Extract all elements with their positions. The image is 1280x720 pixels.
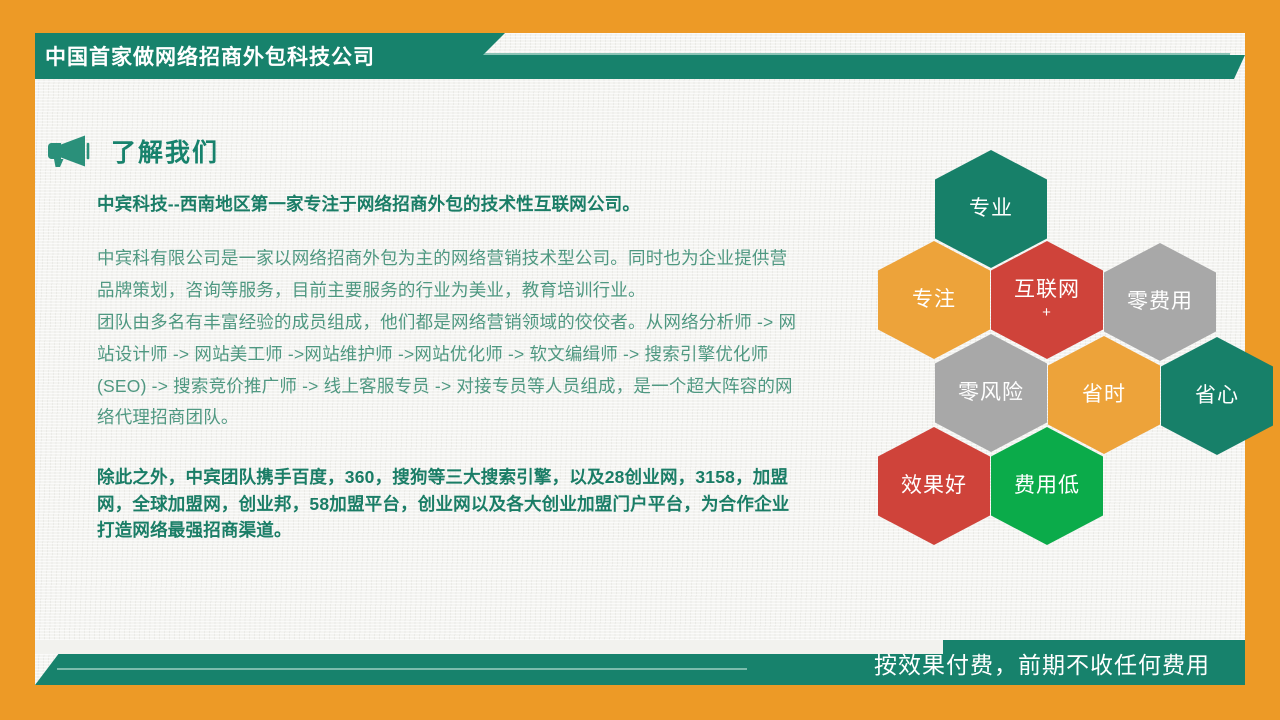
paragraph-intro: 中宾科技--西南地区第一家专注于网络招商外包的技术性互联网公司。 [97,191,797,217]
hexagon-4: 零费用 [1104,243,1216,361]
hexagon-6: 省时 [1048,336,1160,454]
hexagon-8: 效果好 [878,427,990,545]
slide-canvas: 中国首家做网络招商外包科技公司 了解我们 中宾科技--西南地区第一家专注于网络招… [0,0,1280,720]
header-title: 中国首家做网络招商外包科技公司 [45,33,475,79]
hexagon-2: 专注 [878,241,990,359]
hexagon-label: 互联网 [1014,278,1080,302]
hexagon-label: 费用低 [1014,474,1080,498]
paragraph-partners: 除此之外，中宾团队携手百度，360，搜狗等三大搜索引擎，以及28创业网，3158… [97,464,797,543]
hexagon-label: 零费用 [1127,290,1193,314]
hexagon-sublabel: + [1042,304,1052,321]
section-title-text: 了解我们 [111,133,219,169]
hexagon-7: 省心 [1161,337,1273,455]
hexagon-label: 效果好 [901,474,967,498]
hexagon-cluster: 专业专注互联网+零费用零风险省时省心效果好费用低 [838,150,1238,550]
hexagon-9: 费用低 [991,427,1103,545]
hexagon-label: 专业 [969,197,1013,221]
hexagon-5: 零风险 [935,334,1047,452]
hexagon-label: 省心 [1195,384,1239,408]
hexagon-label: 专注 [912,288,956,312]
megaphone-icon [47,134,91,168]
paragraph-team: 团队由多名有丰富经验的成员组成，他们都是网络营销领域的佼佼者。从网络分析师 ->… [97,307,797,434]
footer-tagline: 按效果付费，前期不收任何费用 [35,640,1245,685]
body-text-block: 中宾科技--西南地区第一家专注于网络招商外包的技术性互联网公司。 中宾科有限公司… [97,191,797,543]
hexagon-label: 省时 [1082,383,1126,407]
paragraph-about: 中宾科有限公司是一家以网络招商外包为主的网络营销技术型公司。同时也为企业提供营品… [97,243,797,307]
section-title-row: 了解我们 [47,133,219,169]
hexagon-label: 零风险 [958,381,1024,405]
